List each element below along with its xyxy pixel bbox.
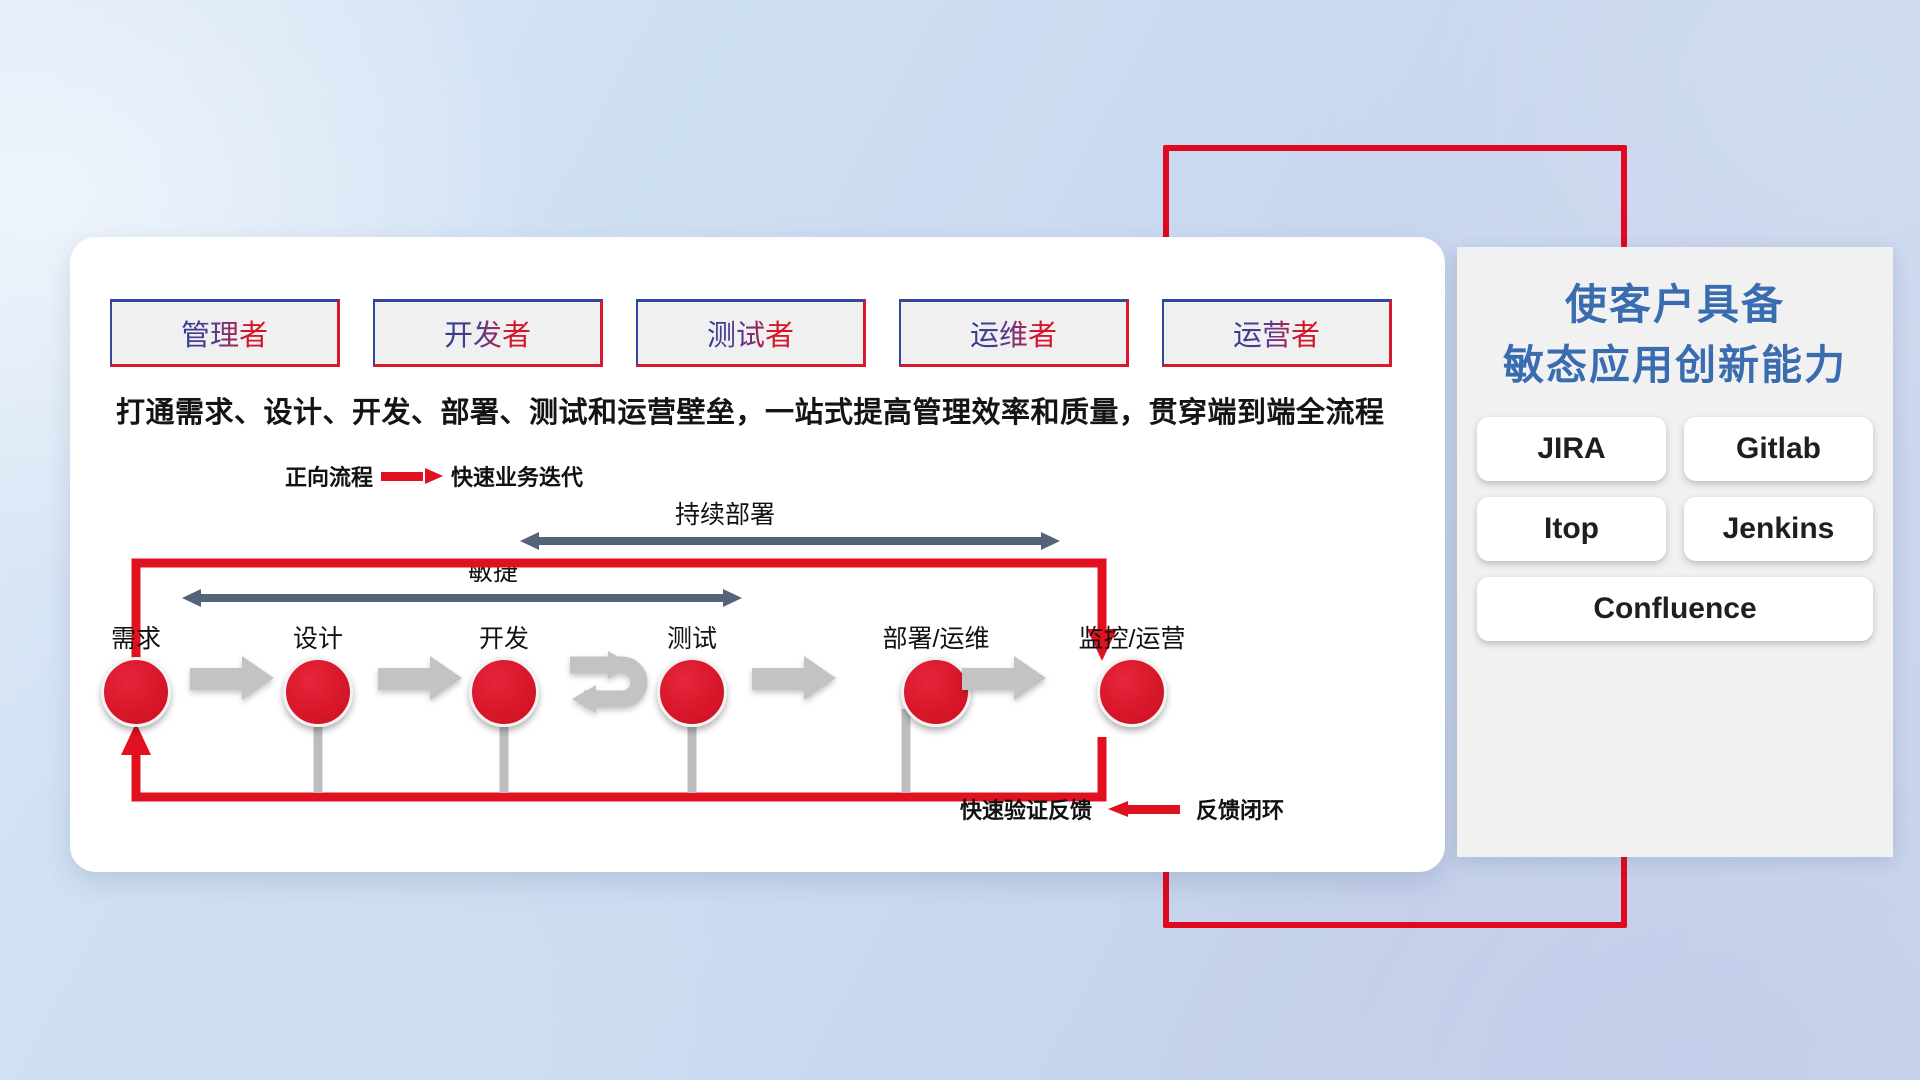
- panel-title: 使客户具备 敏态应用创新能力: [1457, 275, 1893, 395]
- arrow-left-red-icon: [1108, 801, 1180, 817]
- tool-chip-jira[interactable]: JIRA: [1477, 417, 1666, 481]
- tool-chip-jenkins[interactable]: Jenkins: [1684, 497, 1873, 561]
- panel-title-line2: 敏态应用创新能力: [1457, 336, 1893, 395]
- stage-requirements[interactable]: 需求: [76, 619, 196, 727]
- slide-canvas: 管理者 开发者 测试者 运维者 运营者 打通需求、设计、开发、部署、测试和运营壁…: [0, 0, 1920, 1080]
- stage-label: 开发: [444, 619, 564, 655]
- legend-feedback-right-label: 反馈闭环: [1196, 793, 1284, 825]
- tools-panel: 使客户具备 敏态应用创新能力 JIRA Gitlab Itop Jenkins …: [1457, 247, 1893, 857]
- stage-design[interactable]: 设计: [258, 619, 378, 727]
- arrow-right-gray-icon: [752, 656, 836, 700]
- stage-dot: [101, 657, 171, 727]
- tool-chip-itop[interactable]: Itop: [1477, 497, 1666, 561]
- arrow-right-gray-icon: [378, 656, 462, 700]
- arrow-right-gray-icon: [190, 656, 274, 700]
- red-loop-svg: [70, 237, 1445, 872]
- stage-development[interactable]: 开发: [444, 619, 564, 727]
- legend-feedback-loop: 快速验证反馈 反馈闭环: [960, 793, 1284, 825]
- loop-back-gray-icon: [560, 643, 666, 719]
- stage-label: 需求: [76, 619, 196, 655]
- main-content-card: 管理者 开发者 测试者 运维者 运营者 打通需求、设计、开发、部署、测试和运营壁…: [70, 237, 1445, 872]
- tool-chip-confluence[interactable]: Confluence: [1477, 577, 1873, 641]
- panel-title-line1: 使客户具备: [1565, 281, 1785, 328]
- stage-dot: [283, 657, 353, 727]
- stage-dot: [1097, 657, 1167, 727]
- stage-label: 监控/运营: [1042, 619, 1222, 655]
- legend-feedback-left-label: 快速验证反馈: [960, 793, 1092, 825]
- stage-dot: [657, 657, 727, 727]
- stage-label: 设计: [258, 619, 378, 655]
- stage-dot: [469, 657, 539, 727]
- tool-chip-gitlab[interactable]: Gitlab: [1684, 417, 1873, 481]
- stage-dot: [901, 657, 971, 727]
- stage-label: 部署/运维: [846, 619, 1026, 655]
- stage-monitor-operations[interactable]: 监控/运营: [1042, 619, 1222, 727]
- tool-chip-list: JIRA Gitlab Itop Jenkins Confluence: [1477, 417, 1873, 641]
- arrow-right-gray-icon: [962, 656, 1046, 700]
